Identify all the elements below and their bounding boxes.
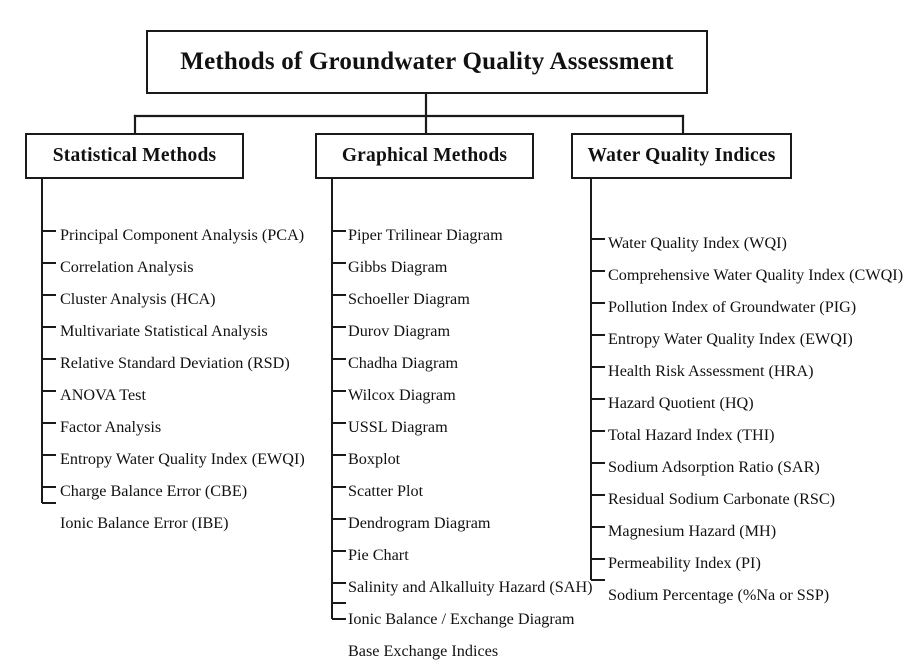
leaf-item-label: Water Quality Index (WQI) <box>608 227 787 259</box>
leaf-item: Cluster Analysis (HCA) <box>60 283 305 315</box>
branch-node-label: Water Quality Indices <box>587 145 775 167</box>
leaf-item: Dendrogram Diagram <box>348 507 593 539</box>
leaf-item-label: Wilcox Diagram <box>348 379 456 411</box>
leaf-item-label: Multivariate Statistical Analysis <box>60 315 268 347</box>
leaf-item: Entropy Water Quality Index (EWQI) <box>608 323 903 355</box>
leaf-item-label: Principal Component Analysis (PCA) <box>60 219 304 251</box>
leaf-item-label: Pie Chart <box>348 539 409 571</box>
diagram-canvas: Methods of Groundwater Quality Assessmen… <box>0 0 919 653</box>
leaf-item: ANOVA Test <box>60 379 305 411</box>
leaf-item: Salinity and Alkalluity Hazard (SAH) <box>348 571 593 603</box>
leaf-item-label: Residual Sodium Carbonate (RSC) <box>608 483 835 515</box>
leaf-item-label: Scatter Plot <box>348 475 423 507</box>
leaf-item: Piper Trilinear Diagram <box>348 219 593 251</box>
leaf-item: Ionic Balance Error (IBE) <box>60 507 305 539</box>
branch-node-water-quality-indices: Water Quality Indices <box>571 133 792 179</box>
leaf-item-label: Cluster Analysis (HCA) <box>60 283 216 315</box>
leaf-item-label: Schoeller Diagram <box>348 283 470 315</box>
leaf-item-label: Magnesium Hazard (MH) <box>608 515 776 547</box>
leaf-item: Boxplot <box>348 443 593 475</box>
leaf-item-label: Ionic Balance / Exchange Diagram <box>348 603 575 635</box>
leaf-item: Water Quality Index (WQI) <box>608 227 903 259</box>
leaf-item: Ionic Balance / Exchange Diagram <box>348 603 593 635</box>
leaf-item: Magnesium Hazard (MH) <box>608 515 903 547</box>
leaf-item: Principal Component Analysis (PCA) <box>60 219 305 251</box>
leaf-item-label: Base Exchange Indices <box>348 635 498 667</box>
leaf-item: Gibbs Diagram <box>348 251 593 283</box>
leaf-item-label: Dendrogram Diagram <box>348 507 491 539</box>
leaf-item: Charge Balance Error (CBE) <box>60 475 305 507</box>
leaf-item: Factor Analysis <box>60 411 305 443</box>
leaf-item: Correlation Analysis <box>60 251 305 283</box>
leaf-item-label: Hazard Quotient (HQ) <box>608 387 754 419</box>
leaf-item: Chadha Diagram <box>348 347 593 379</box>
leaf-item: Total Hazard Index (THI) <box>608 419 903 451</box>
leaf-item: Wilcox Diagram <box>348 379 593 411</box>
leaf-item-label: Charge Balance Error (CBE) <box>60 475 247 507</box>
leaf-item: Scatter Plot <box>348 475 593 507</box>
leaf-item: Schoeller Diagram <box>348 283 593 315</box>
leaf-item: Sodium Adsorption Ratio (SAR) <box>608 451 903 483</box>
leaf-item-label: USSL Diagram <box>348 411 448 443</box>
branch-node-statistical-methods: Statistical Methods <box>25 133 244 179</box>
leaf-item: Residual Sodium Carbonate (RSC) <box>608 483 903 515</box>
leaf-item-label: Factor Analysis <box>60 411 161 443</box>
leaf-item: Pollution Index of Groundwater (PIG) <box>608 291 903 323</box>
leaf-item-label: Gibbs Diagram <box>348 251 447 283</box>
leaf-item-label: Boxplot <box>348 443 400 475</box>
leaf-item: Durov Diagram <box>348 315 593 347</box>
leaf-item: USSL Diagram <box>348 411 593 443</box>
root-node-label: Methods of Groundwater Quality Assessmen… <box>180 48 673 76</box>
leaf-item: Multivariate Statistical Analysis <box>60 315 305 347</box>
leaf-item-label: Permeability Index (PI) <box>608 547 761 579</box>
leaf-item-label: Pollution Index of Groundwater (PIG) <box>608 291 856 323</box>
leaf-item-label: Health Risk Assessment (HRA) <box>608 355 813 387</box>
leaf-item-label: Entropy Water Quality Index (EWQI) <box>608 323 853 355</box>
leaf-list-water-quality-indices: Water Quality Index (WQI) Comprehensive … <box>608 227 903 611</box>
leaf-item: Sodium Percentage (%Na or SSP) <box>608 579 903 611</box>
leaf-item: Health Risk Assessment (HRA) <box>608 355 903 387</box>
root-node-title: Methods of Groundwater Quality Assessmen… <box>146 30 708 94</box>
leaf-item-label: Relative Standard Deviation (RSD) <box>60 347 290 379</box>
leaf-item: Hazard Quotient (HQ) <box>608 387 903 419</box>
leaf-item-label: Total Hazard Index (THI) <box>608 419 775 451</box>
leaf-item-label: Piper Trilinear Diagram <box>348 219 503 251</box>
leaf-item-label: Salinity and Alkalluity Hazard (SAH) <box>348 571 593 603</box>
leaf-item-label: Comprehensive Water Quality Index (CWQI) <box>608 259 903 291</box>
leaf-item-label: Entropy Water Quality Index (EWQI) <box>60 443 305 475</box>
leaf-item: Base Exchange Indices <box>348 635 593 667</box>
leaf-item-label: Sodium Percentage (%Na or SSP) <box>608 579 829 611</box>
leaf-list-graphical-methods: Piper Trilinear Diagram Gibbs Diagram Sc… <box>348 219 593 667</box>
leaf-item: Pie Chart <box>348 539 593 571</box>
leaf-item: Entropy Water Quality Index (EWQI) <box>60 443 305 475</box>
leaf-item: Relative Standard Deviation (RSD) <box>60 347 305 379</box>
branch-node-graphical-methods: Graphical Methods <box>315 133 534 179</box>
leaf-item-label: Durov Diagram <box>348 315 450 347</box>
leaf-item: Comprehensive Water Quality Index (CWQI) <box>608 259 903 291</box>
leaf-item-label: Chadha Diagram <box>348 347 458 379</box>
leaf-item: Permeability Index (PI) <box>608 547 903 579</box>
leaf-item-label: ANOVA Test <box>60 379 146 411</box>
leaf-item-label: Correlation Analysis <box>60 251 194 283</box>
branch-node-label: Graphical Methods <box>342 145 507 167</box>
leaf-item-label: Ionic Balance Error (IBE) <box>60 507 229 539</box>
leaf-item-label: Sodium Adsorption Ratio (SAR) <box>608 451 820 483</box>
branch-node-label: Statistical Methods <box>53 145 217 167</box>
leaf-list-statistical-methods: Principal Component Analysis (PCA) Corre… <box>60 219 305 539</box>
